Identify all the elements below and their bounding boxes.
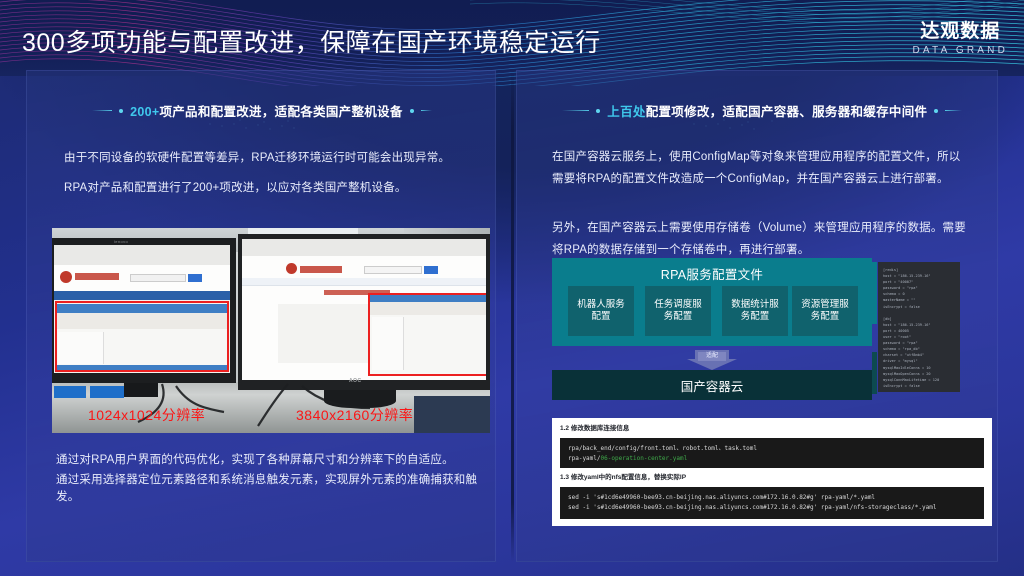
code-path-prefix: rpa-yaml/ bbox=[568, 455, 601, 462]
config-code-side-panel: [redis] host = "186.15.239.16" port = "4… bbox=[878, 262, 960, 392]
right-paragraph-2: 另外，在国产容器云上需要使用存储卷（Volume）来管理应用程序的数据。需要将R… bbox=[552, 217, 972, 261]
header-band: 300多项功能与配置改进，保障在国产环境稳定运行 达观数据 DATA GRAND bbox=[0, 0, 1024, 76]
teal-accent-tab-top bbox=[872, 262, 877, 324]
left-heading-dots-decoration bbox=[196, 112, 326, 136]
step-1-3-code-line-2: sed -i 's#1cd6e49960-bee93.cn-beijing.na… bbox=[568, 503, 976, 513]
step-1-2-code-line-2: rpa-yaml/06-operation-center.yaml bbox=[568, 454, 976, 464]
rule-dot-right bbox=[410, 109, 414, 113]
deployment-steps-card: 1.2 修改数据库连接信息 rpa/back_end/config/front.… bbox=[552, 418, 992, 526]
red-highlight-left[interactable] bbox=[55, 301, 229, 371]
callout-badge-1 bbox=[54, 386, 86, 398]
step-1-2-label: 1.2 修改数据库连接信息 bbox=[560, 424, 984, 434]
rule-dot-left-2 bbox=[596, 109, 600, 113]
adaptation-arrow-label: 适配 bbox=[698, 352, 726, 361]
step-1-3-code-block: sed -i 's#1cd6e49960-bee93.cn-beijing.na… bbox=[560, 487, 984, 519]
code-path-highlight: 06-operation-center.yaml bbox=[601, 455, 688, 462]
step-1-2-code-block: rpa/back_end/config/front.toml、robot.tom… bbox=[560, 438, 984, 468]
workstation-photo: lenovo AOC bbox=[52, 228, 490, 433]
browser-chrome-right bbox=[242, 239, 486, 256]
left-footnote-1: 通过对RPA用户界面的代码优化，实现了各种屏幕尺寸和分辨率下的自适应。 bbox=[56, 452, 486, 469]
brand-logo: 达观数据 DATA GRAND bbox=[912, 21, 1008, 58]
rule-right-2 bbox=[945, 110, 962, 111]
search-button-left bbox=[188, 274, 202, 282]
brand-logo-en: DATA GRAND bbox=[912, 44, 1008, 58]
step-1-3-code-line-1: sed -i 's#1cd6e49960-bee93.cn-beijing.na… bbox=[568, 493, 976, 503]
rule-left bbox=[92, 110, 112, 111]
brand-logo-cn: 达观数据 bbox=[912, 21, 1008, 42]
rule-dot-left bbox=[119, 109, 123, 113]
monitor-left-brand: lenovo bbox=[114, 239, 128, 244]
right-heading-highlight: 上百处 bbox=[607, 105, 645, 119]
slide-canvas: 300多项功能与配置改进，保障在国产环境稳定运行 达观数据 DATA GRAND… bbox=[0, 0, 1024, 576]
resolution-label-right: 3840x2160分辨率 bbox=[296, 408, 420, 423]
step-1-2-code-line-1: rpa/back_end/config/front.toml、robot.tom… bbox=[568, 444, 976, 454]
left-heading-highlight: 200+ bbox=[130, 105, 159, 119]
teal-accent-tab-bottom bbox=[872, 352, 877, 394]
rpa-config-diagram: RPA服务配置文件 机器人服务配置 任务调度服务配置 数据统计服务配置 资源管理… bbox=[552, 258, 872, 400]
left-paragraph-1: 由于不同设备的软硬件配置等差异，RPA迁移环境运行时可能会出现异常。 bbox=[64, 148, 474, 168]
nav-bar-left bbox=[54, 291, 230, 300]
diagram-item-3[interactable]: 资源管理服务配置 bbox=[792, 286, 858, 336]
step-1-3-label: 1.3 修改yaml中的nfs配置信息，替换实际IP bbox=[560, 473, 984, 483]
left-footnote-2: 通过采用选择器定位元素路径和系统消息触发元素，实现屏外元素的准确捕获和触发。 bbox=[56, 472, 496, 506]
browser-chrome-left bbox=[54, 245, 230, 265]
right-paragraph-1: 在国产容器云服务上，使用ConfigMap等对象来管理应用程序的配置文件，所以需… bbox=[552, 146, 972, 190]
panel-divider bbox=[511, 70, 514, 562]
monitor-right-screen bbox=[242, 239, 486, 380]
gov-logo-right bbox=[286, 263, 297, 274]
gov-logo-left bbox=[60, 271, 72, 283]
gov-title-right bbox=[300, 266, 342, 273]
callout-badge-2 bbox=[90, 386, 124, 398]
search-box-right bbox=[364, 266, 422, 274]
diagram-item-2[interactable]: 数据统计服务配置 bbox=[722, 286, 788, 336]
config-code-side-text: [redis] host = "186.15.239.16" port = "4… bbox=[883, 267, 955, 389]
page-title: 300多项功能与配置改进，保障在国产环境稳定运行 bbox=[22, 22, 722, 64]
nav-bar-right bbox=[242, 278, 486, 286]
red-highlight-right[interactable] bbox=[368, 293, 486, 376]
rpa-config-title: RPA服务配置文件 bbox=[552, 264, 872, 283]
right-heading-dots-decoration bbox=[680, 112, 810, 136]
gov-title-left bbox=[75, 273, 119, 280]
diagram-item-0[interactable]: 机器人服务配置 bbox=[568, 286, 634, 336]
domestic-container-cloud-box[interactable]: 国产容器云 bbox=[552, 370, 872, 400]
rule-dot-right-2 bbox=[934, 109, 938, 113]
diagram-item-1[interactable]: 任务调度服务配置 bbox=[645, 286, 711, 336]
resolution-label-left: 1024x1024分辨率 bbox=[88, 408, 208, 423]
rule-right bbox=[421, 110, 432, 111]
rule-left-2 bbox=[562, 110, 589, 111]
monitor-left-screen bbox=[54, 245, 230, 373]
search-button-right bbox=[424, 266, 438, 274]
left-paragraph-2: RPA对产品和配置进行了200+项改进，以应对各类国产整机设备。 bbox=[64, 178, 474, 198]
search-box-left bbox=[130, 274, 186, 282]
